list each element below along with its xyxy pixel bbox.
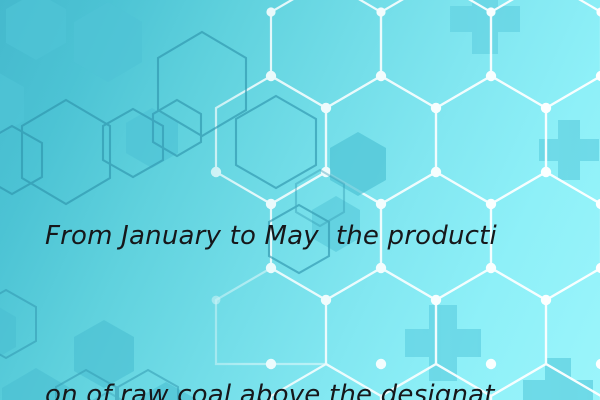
- news-banner: From January to May the producti on of r…: [0, 0, 600, 400]
- headline-line-1: From January to May the producti: [45, 210, 555, 263]
- medical-cross-top: [450, 0, 520, 54]
- headline-line-2: on of raw coal above the designat: [45, 369, 555, 400]
- headline-text: From January to May the producti on of r…: [45, 104, 555, 400]
